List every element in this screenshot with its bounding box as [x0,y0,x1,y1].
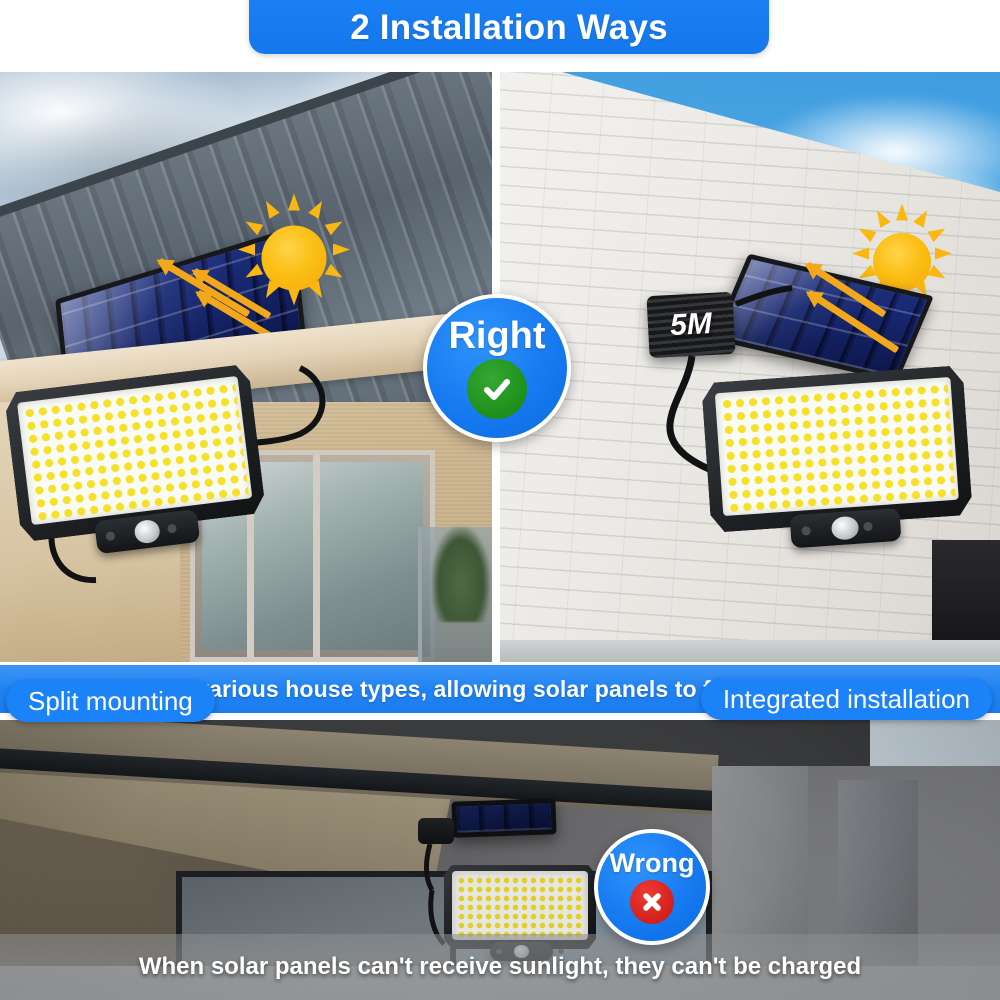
label-integrated-installation: Integrated installation [701,678,992,720]
check-icon [467,359,527,419]
led-array [718,380,955,513]
led-flood-lamp [4,364,266,543]
sun-icon [238,202,350,314]
cable-length-label: 5M [669,307,712,343]
split-mounting-text: Split mounting [28,686,193,717]
led-flood-lamp [701,365,973,533]
integrated-installation-text: Integrated installation [723,684,970,715]
infographic-page: 2 Installation Ways [0,0,1000,1000]
bottom-caption-text: When solar panels can't receive sunlight… [139,953,861,981]
wrong-badge: Wrong [594,829,710,945]
label-split-mounting: Split mounting [6,680,215,722]
door-mullion [313,455,320,657]
page-title-banner: 2 Installation Ways [249,0,769,54]
lamp-face [715,376,959,515]
bottom-photo-row: Wrong When solar panels can't receive su… [0,720,1000,1000]
wrong-badge-label: Wrong [610,850,695,877]
cross-icon [630,880,674,924]
tree [432,527,490,622]
integrated-installation-photo: 5M [500,72,1000,662]
led-array [21,379,249,521]
right-badge: Right [423,294,571,442]
bottom-caption-bar: When solar panels can't receive sunlight… [0,934,1000,1000]
page-title: 2 Installation Ways [350,8,668,48]
right-badge-label: Right [448,317,545,355]
split-mounting-photo [0,72,492,662]
cable-coil: 5M [646,292,735,358]
ground-strip [500,640,1000,662]
